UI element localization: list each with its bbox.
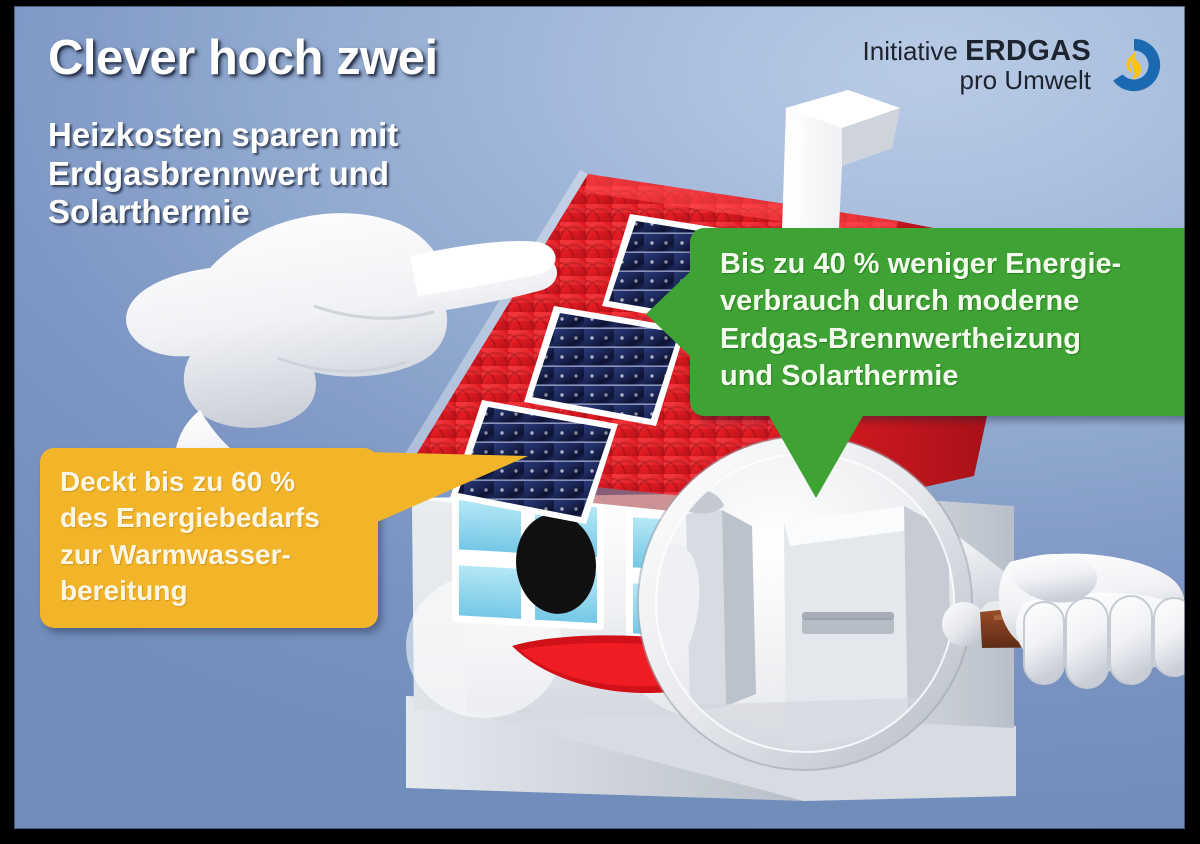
poster-canvas: Clever hoch zwei Heizkosten sparen mit E… [14, 6, 1185, 829]
logo-wordmark: Initiative ERDGAS pro Umwelt [863, 36, 1091, 93]
green-callout-line-4: und Solarthermie [720, 358, 1185, 395]
yellow-callout-text: Deckt bis zu 60 % des Energiebedarfs zur… [60, 464, 360, 610]
brand-logo: Initiative ERDGAS pro Umwelt [863, 34, 1165, 96]
gripping-hand [999, 554, 1185, 688]
logo-initiative-text: Initiative [863, 36, 966, 66]
yellow-callout-line-1: Deckt bis zu 60 % [60, 464, 360, 500]
subtitle-line-1: Heizkosten sparen mit [48, 116, 398, 155]
logo-line-2: pro Umwelt [863, 67, 1091, 94]
logo-erdgas-text: ERDGAS [965, 35, 1091, 67]
erdgas-flame-ring-icon [1103, 34, 1165, 96]
page-subtitle: Heizkosten sparen mit Erdgasbrennwert un… [48, 116, 398, 232]
yellow-callout-line-4: bereitung [60, 573, 360, 609]
green-callout-line-1: Bis zu 40 % weniger Energie- [720, 246, 1185, 283]
logo-line-1: Initiative ERDGAS [863, 36, 1091, 66]
yellow-callout-line-3: zur Warmwasser- [60, 537, 360, 573]
subtitle-line-3: Solarthermie [48, 193, 398, 232]
green-callout-line-3: Erdgas-Brennwertheizung [720, 321, 1185, 358]
poster-frame: Clever hoch zwei Heizkosten sparen mit E… [0, 0, 1200, 844]
yellow-info-callout[interactable]: Deckt bis zu 60 % des Energiebedarfs zur… [40, 448, 378, 628]
green-info-callout[interactable]: Bis zu 40 % weniger Energie- verbrauch d… [690, 228, 1185, 416]
green-callout-down-pointer [768, 414, 864, 498]
page-title: Clever hoch zwei [48, 30, 438, 86]
green-callout-left-pointer [646, 270, 692, 358]
yellow-callout-pointer [368, 452, 528, 526]
green-callout-text: Bis zu 40 % weniger Energie- verbrauch d… [720, 246, 1185, 396]
yellow-callout-line-2: des Energiebedarfs [60, 500, 360, 536]
subtitle-line-2: Erdgasbrennwert und [48, 155, 398, 194]
green-callout-line-2: verbrauch durch moderne [720, 283, 1185, 320]
